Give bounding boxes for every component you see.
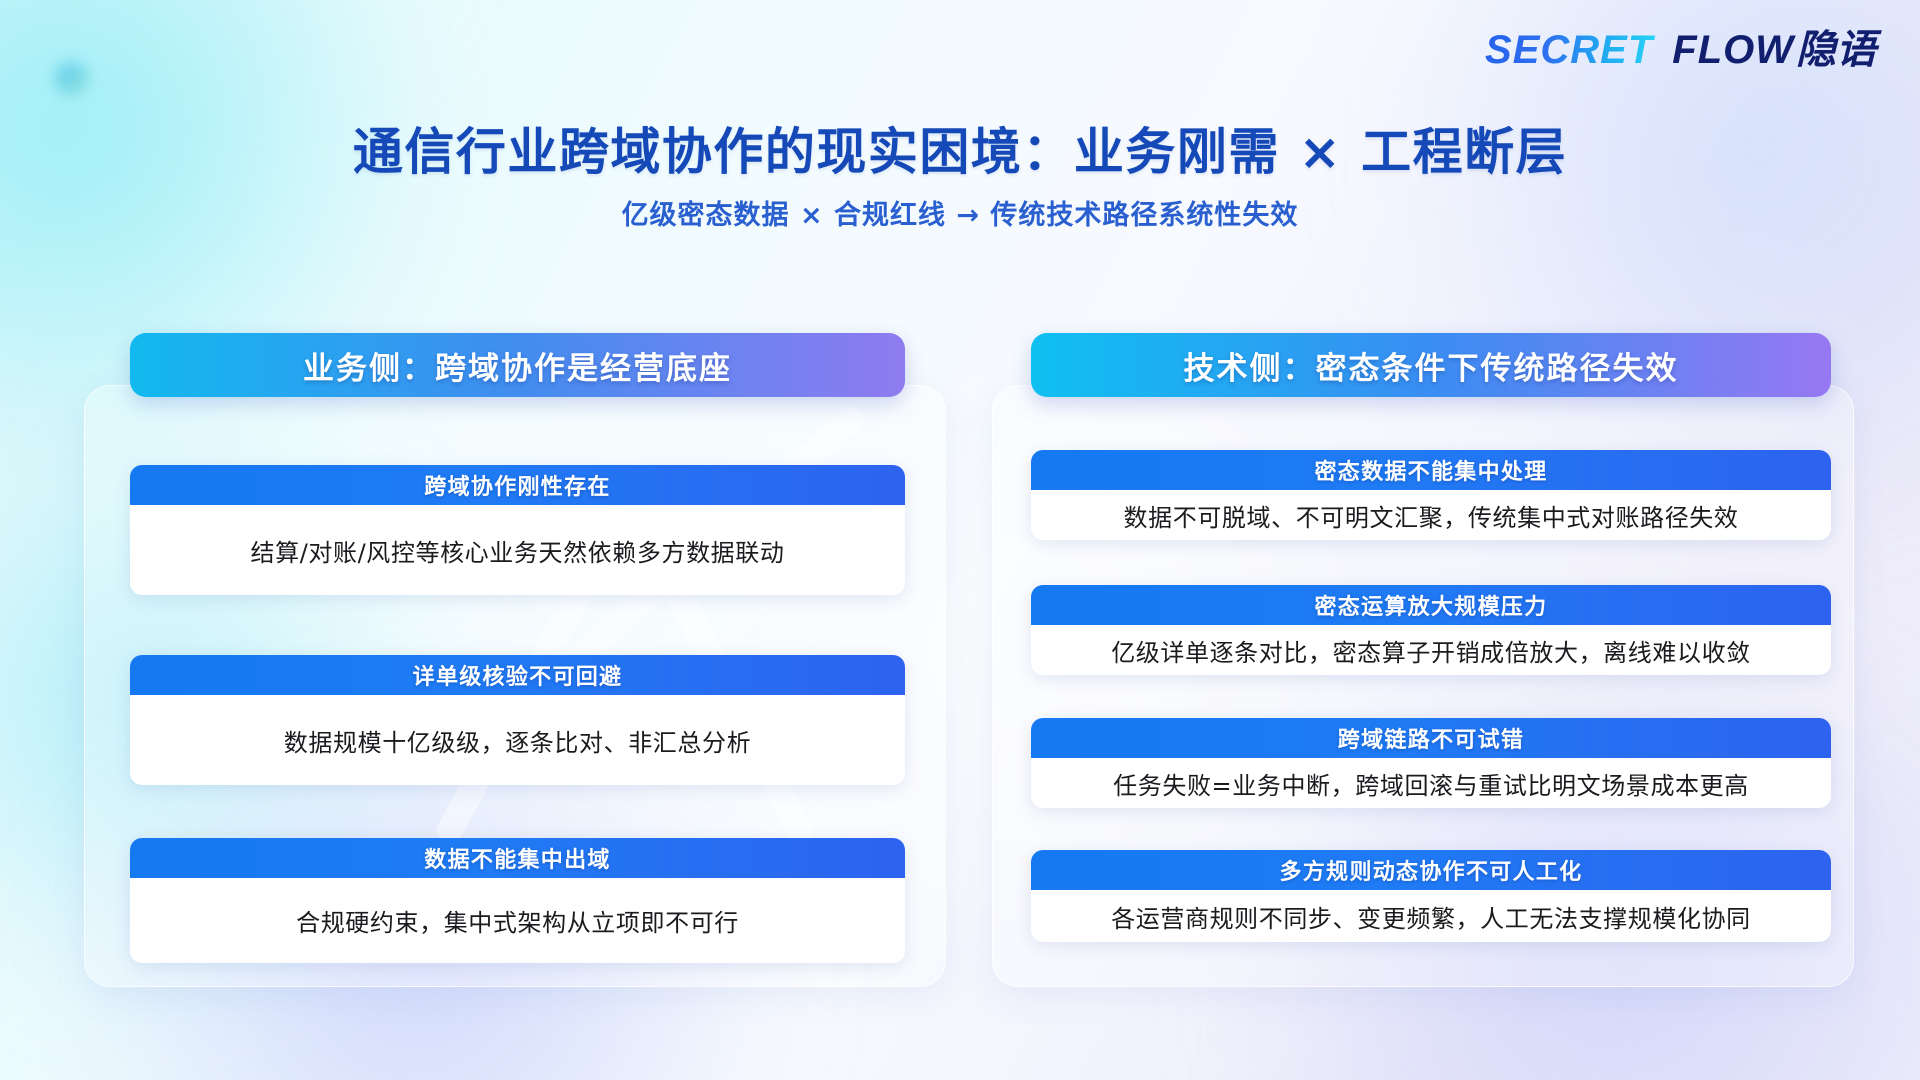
page-subtitle: 亿级密态数据 × 合规红线 → 传统技术路径系统性失效 <box>0 193 1920 232</box>
card-technical-0-title: 密态数据不能集中处理 <box>1031 450 1831 490</box>
slide-canvas: SECRET FLOW 隐语 通信行业跨域协作的现实困境：业务刚需 × 工程断层… <box>0 0 1920 1080</box>
card-technical-2-body: 任务失败=业务中断，跨域回滚与重试比明文场景成本更高 <box>1031 758 1831 808</box>
logo-secret-text: SECRET <box>1485 30 1655 70</box>
card-business-0-body: 结算/对账/风控等核心业务天然依赖多方数据联动 <box>130 505 905 595</box>
card-business-0-title: 跨域协作刚性存在 <box>130 465 905 505</box>
card-business-1-body: 数据规模十亿级级，逐条比对、非汇总分析 <box>130 695 905 785</box>
page-title: 通信行业跨域协作的现实困境：业务刚需 × 工程断层 <box>0 112 1920 184</box>
card-technical-0[interactable]: 密态数据不能集中处理 数据不可脱域、不可明文汇聚，传统集中式对账路径失效 <box>1031 450 1831 540</box>
logo-flow-text: FLOW <box>1672 30 1794 70</box>
card-technical-1-title: 密态运算放大规模压力 <box>1031 585 1831 625</box>
card-technical-1-body: 亿级详单逐条对比，密态算子开销成倍放大，离线难以收敛 <box>1031 625 1831 675</box>
card-business-1[interactable]: 详单级核验不可回避 数据规模十亿级级，逐条比对、非汇总分析 <box>130 655 905 785</box>
card-technical-2[interactable]: 跨域链路不可试错 任务失败=业务中断，跨域回滚与重试比明文场景成本更高 <box>1031 718 1831 808</box>
card-technical-3-title: 多方规则动态协作不可人工化 <box>1031 850 1831 890</box>
card-technical-2-title: 跨域链路不可试错 <box>1031 718 1831 758</box>
card-technical-3[interactable]: 多方规则动态协作不可人工化 各运营商规则不同步、变更频繁，人工无法支撑规模化协同 <box>1031 850 1831 942</box>
card-business-2[interactable]: 数据不能集中出域 合规硬约束，集中式架构从立项即不可行 <box>130 838 905 963</box>
card-business-2-title: 数据不能集中出域 <box>130 838 905 878</box>
brand-logo: SECRET FLOW 隐语 <box>1485 30 1876 70</box>
panel-header-technical-side: 技术侧：密态条件下传统路径失效 <box>1031 333 1831 397</box>
card-business-2-body: 合规硬约束，集中式架构从立项即不可行 <box>130 878 905 963</box>
card-business-0[interactable]: 跨域协作刚性存在 结算/对账/风控等核心业务天然依赖多方数据联动 <box>130 465 905 595</box>
card-technical-3-body: 各运营商规则不同步、变更频繁，人工无法支撑规模化协同 <box>1031 890 1831 942</box>
background-dot-accent <box>55 62 89 96</box>
card-technical-0-body: 数据不可脱域、不可明文汇聚，传统集中式对账路径失效 <box>1031 490 1831 540</box>
panel-header-business-side: 业务侧：跨域协作是经营底座 <box>130 333 905 397</box>
card-technical-1[interactable]: 密态运算放大规模压力 亿级详单逐条对比，密态算子开销成倍放大，离线难以收敛 <box>1031 585 1831 675</box>
card-business-1-title: 详单级核验不可回避 <box>130 655 905 695</box>
logo-chinese-text: 隐语 <box>1796 30 1876 70</box>
